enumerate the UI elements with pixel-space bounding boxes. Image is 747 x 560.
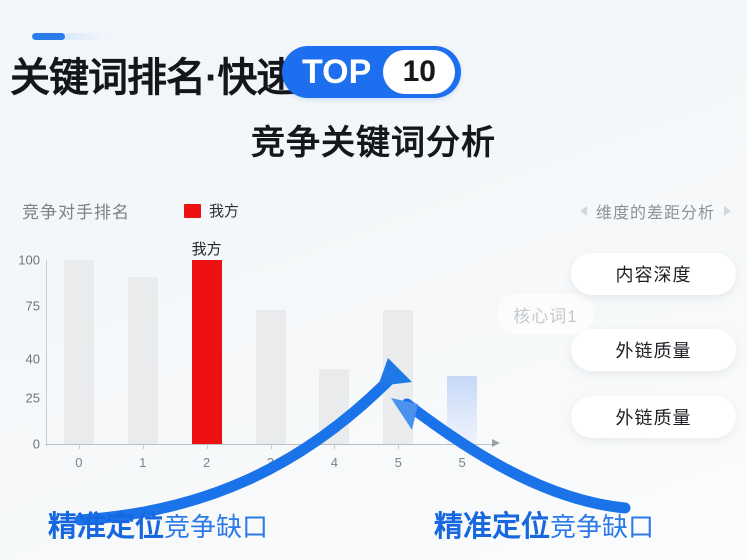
- competitor-rank-bar-chart: 1007540250 0123455 我方: [0, 250, 540, 465]
- x-axis-tick: 3: [267, 455, 274, 470]
- triangle-right-icon: [724, 206, 731, 216]
- bar: [128, 277, 158, 444]
- y-axis-tick: 40: [26, 352, 40, 367]
- y-axis-tick: 25: [26, 391, 40, 406]
- y-axis-tick: 100: [18, 253, 40, 268]
- dimension-gap-heading-label: 维度的差距分析: [596, 199, 715, 223]
- legend-series-label: 我方: [209, 200, 239, 221]
- x-axis-tick: 0: [75, 455, 82, 470]
- x-axis-tick: 4: [331, 455, 338, 470]
- progress-accent-fill: [32, 33, 65, 40]
- x-axis-tick-mark: [334, 444, 335, 449]
- bar-forecast: [447, 376, 477, 444]
- bar: [64, 260, 94, 444]
- x-axis-tick-mark: [462, 444, 463, 449]
- progress-accent-bar: [32, 33, 114, 40]
- slide-canvas: 关键词排名·快速 TOP 10 竞争关键词分析 竞争对手排名 我方 维度的差距分…: [0, 0, 747, 560]
- bar-highlight: [192, 260, 222, 444]
- top-badge-word: TOP: [302, 55, 383, 89]
- page-title: 关键词排名·快速: [10, 45, 295, 103]
- bar: [256, 310, 286, 444]
- dimension-card-1[interactable]: 外链质量: [571, 329, 736, 371]
- chart-axis-caption: 竞争对手排名: [22, 198, 130, 223]
- right-caption-thin: 竞争缺口: [550, 512, 654, 542]
- legend-color-swatch: [184, 204, 201, 218]
- x-axis-tick: 2: [203, 455, 210, 470]
- ghost-keyword-pill[interactable]: 核心词1: [497, 294, 594, 334]
- page-subtitle: 竞争关键词分析: [0, 115, 747, 164]
- left-caption-bold: 精准定位: [48, 511, 164, 543]
- top-badge-number: 10: [403, 55, 436, 89]
- top-rank-badge: TOP 10: [282, 46, 461, 98]
- y-axis-tick: 75: [26, 299, 40, 314]
- x-axis-tick-mark: [207, 444, 208, 449]
- right-caption: 精准定位竞争缺口: [434, 503, 654, 545]
- triangle-left-icon: [580, 206, 587, 216]
- x-axis-tick: 5: [395, 455, 402, 470]
- highlight-bar-label: 我方: [192, 238, 222, 259]
- x-axis-tick-mark: [79, 444, 80, 449]
- left-caption: 精准定位竞争缺口: [48, 503, 268, 545]
- top-badge-circle: 10: [383, 50, 455, 94]
- chart-y-axis: 1007540250: [0, 250, 46, 446]
- dimension-card-0[interactable]: 内容深度: [571, 253, 736, 295]
- x-axis-tick-mark: [143, 444, 144, 449]
- x-axis-tick-mark: [271, 444, 272, 449]
- chart-legend: 我方: [184, 200, 239, 221]
- right-caption-bold: 精准定位: [434, 511, 550, 543]
- x-axis-tick-mark: [398, 444, 399, 449]
- x-axis-tick: 1: [139, 455, 146, 470]
- dimension-card-2[interactable]: 外链质量: [571, 396, 736, 438]
- y-axis-tick: 0: [33, 437, 40, 452]
- bar: [383, 310, 413, 444]
- x-axis-tick: 5: [458, 455, 465, 470]
- chart-plot-area: [47, 260, 494, 444]
- bar: [319, 369, 349, 444]
- left-caption-thin: 竞争缺口: [164, 512, 268, 542]
- dimension-gap-heading: 维度的差距分析: [580, 199, 731, 223]
